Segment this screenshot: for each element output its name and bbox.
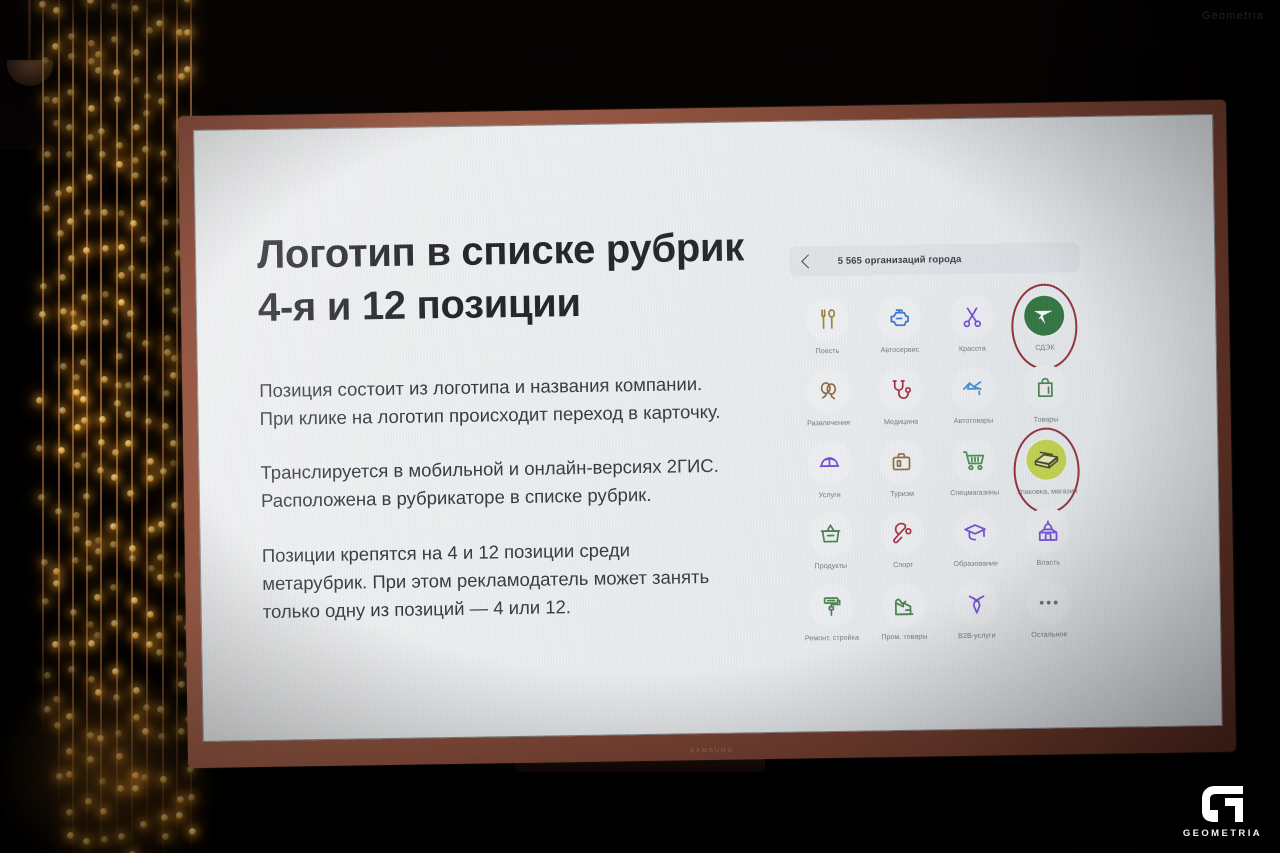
category-label: Упаковка, магазин xyxy=(1017,487,1078,497)
tv-bezel: Логотип в списке рубрик 4-я и 12 позиции… xyxy=(178,100,1236,768)
package-logo-icon[interactable] xyxy=(1023,436,1070,483)
watermark-bottom: GEOMETRIA xyxy=(1183,784,1262,839)
category-label: Поесть xyxy=(815,347,839,356)
mockup-header: 5 565 организаций города xyxy=(790,242,1080,277)
category-cell[interactable]: Ремонт, стройка xyxy=(795,577,869,644)
category-cell[interactable]: Услуги xyxy=(792,433,866,500)
package-logo-icon xyxy=(1026,439,1067,480)
paint-roller-icon[interactable] xyxy=(808,583,855,630)
slide-paragraph-3: Позиции крепятся на 4 и 12 позиции среди… xyxy=(262,534,733,626)
category-cell[interactable]: Поесть xyxy=(790,290,864,357)
category-label: Развлечения xyxy=(807,419,850,428)
category-cell[interactable]: Спецмагазины xyxy=(937,431,1011,498)
category-label: Образование xyxy=(953,560,998,569)
tv-brand-label: SAMSUNG xyxy=(690,748,734,755)
category-label: Спорт xyxy=(893,561,913,570)
slide-mockup-column: 5 565 организаций города Поесть Автосерв… xyxy=(788,171,1182,703)
category-label: Ремонт, стройка xyxy=(805,634,859,644)
cdek-logo-icon xyxy=(1024,295,1065,336)
back-chevron-icon[interactable] xyxy=(802,254,816,268)
necktie-icon[interactable] xyxy=(953,581,1000,628)
category-label: Автосервис xyxy=(880,346,919,355)
category-label: Спецмагазины xyxy=(950,488,999,498)
category-cell[interactable]: Развлечения xyxy=(791,361,865,428)
factory-icon[interactable] xyxy=(881,582,928,629)
category-label: Автотовары xyxy=(954,416,994,425)
cdek-logo-icon[interactable] xyxy=(1021,292,1068,339)
category-cell[interactable]: Товары xyxy=(1009,358,1083,425)
government-icon[interactable] xyxy=(1024,508,1071,555)
category-cell[interactable]: Автотовары xyxy=(936,359,1010,426)
category-cell[interactable]: Туризм xyxy=(865,432,939,499)
category-cell[interactable]: Красота xyxy=(935,287,1009,354)
rubricator-mockup: 5 565 организаций города Поесть Автосерв… xyxy=(790,242,1086,643)
geometria-logo-icon xyxy=(1199,784,1245,824)
cutlery-icon[interactable] xyxy=(804,296,851,343)
presentation-slide: Логотип в списке рубрик 4-я и 12 позиции… xyxy=(193,114,1222,742)
basket-icon[interactable] xyxy=(807,511,854,558)
graduation-cap-icon[interactable] xyxy=(952,509,999,556)
category-label: СДЭК xyxy=(1035,344,1054,353)
category-cell[interactable]: Остальное xyxy=(1012,573,1086,640)
organizations-count-label: 5 565 организаций города xyxy=(838,253,962,266)
category-cell[interactable]: Спорт xyxy=(866,504,940,571)
slide-paragraph-2: Транслируется в мобильной и онлайн-верси… xyxy=(260,452,731,516)
shopping-bag-icon[interactable] xyxy=(1022,364,1069,411)
category-cell[interactable]: B2B-услуги xyxy=(940,574,1014,641)
category-label: Власть xyxy=(1036,559,1060,568)
hard-hat-icon[interactable] xyxy=(806,439,853,486)
category-label: Медицина xyxy=(884,417,918,426)
category-cell[interactable]: СДЭК xyxy=(1008,286,1082,353)
slide-text-column: Логотип в списке рубрик 4-я и 12 позиции… xyxy=(256,177,797,711)
watermark-bottom-label: GEOMETRIA xyxy=(1183,828,1262,839)
scissors-icon[interactable] xyxy=(949,293,996,340)
pendant-lamp xyxy=(28,0,31,66)
category-grid: Поесть Автосервис Красота СДЭК Развлечен… xyxy=(790,286,1086,643)
watermark-top: Geometria xyxy=(1202,10,1264,22)
slide-title-line-2: 4-я и 12 позиции xyxy=(258,281,581,330)
slide-paragraph-1: Позиция состоит из логотипа и названия к… xyxy=(259,369,730,433)
car-engine-icon[interactable] xyxy=(876,295,923,342)
category-label: Товары xyxy=(1034,415,1059,424)
category-cell[interactable]: Пром. товары xyxy=(867,575,941,642)
page-title: Логотип в списке рубрик 4-я и 12 позиции xyxy=(257,221,791,335)
category-label: Пром. товары xyxy=(881,633,927,643)
category-cell[interactable]: Автосервис xyxy=(863,288,937,355)
category-label: Туризм xyxy=(890,489,914,498)
category-label: Остальное xyxy=(1031,630,1067,639)
television: Логотип в списке рубрик 4-я и 12 позиции… xyxy=(178,100,1236,768)
balloons-icon[interactable] xyxy=(805,368,852,415)
tv-screen: Логотип в списке рубрик 4-я и 12 позиции… xyxy=(193,114,1222,742)
category-label: Услуги xyxy=(819,490,841,499)
category-cell[interactable]: Медицина xyxy=(864,360,938,427)
category-cell[interactable]: Власть xyxy=(1011,501,1085,568)
slide-title-line-1: Логотип в списке рубрик xyxy=(257,225,744,277)
ping-pong-icon[interactable] xyxy=(879,510,926,557)
category-label: Продукты xyxy=(814,562,847,571)
suitcase-icon[interactable] xyxy=(878,438,925,485)
category-label: B2B-услуги xyxy=(958,632,996,641)
stethoscope-icon[interactable] xyxy=(877,366,924,413)
shopping-cart-icon[interactable] xyxy=(951,437,998,484)
category-cell[interactable]: Образование xyxy=(939,503,1013,570)
car-part-icon[interactable] xyxy=(950,365,997,412)
category-label: Красота xyxy=(959,345,986,354)
category-cell[interactable]: Упаковка, магазин xyxy=(1010,430,1084,497)
ellipsis-icon[interactable] xyxy=(1026,579,1073,626)
category-cell[interactable]: Продукты xyxy=(794,505,868,572)
